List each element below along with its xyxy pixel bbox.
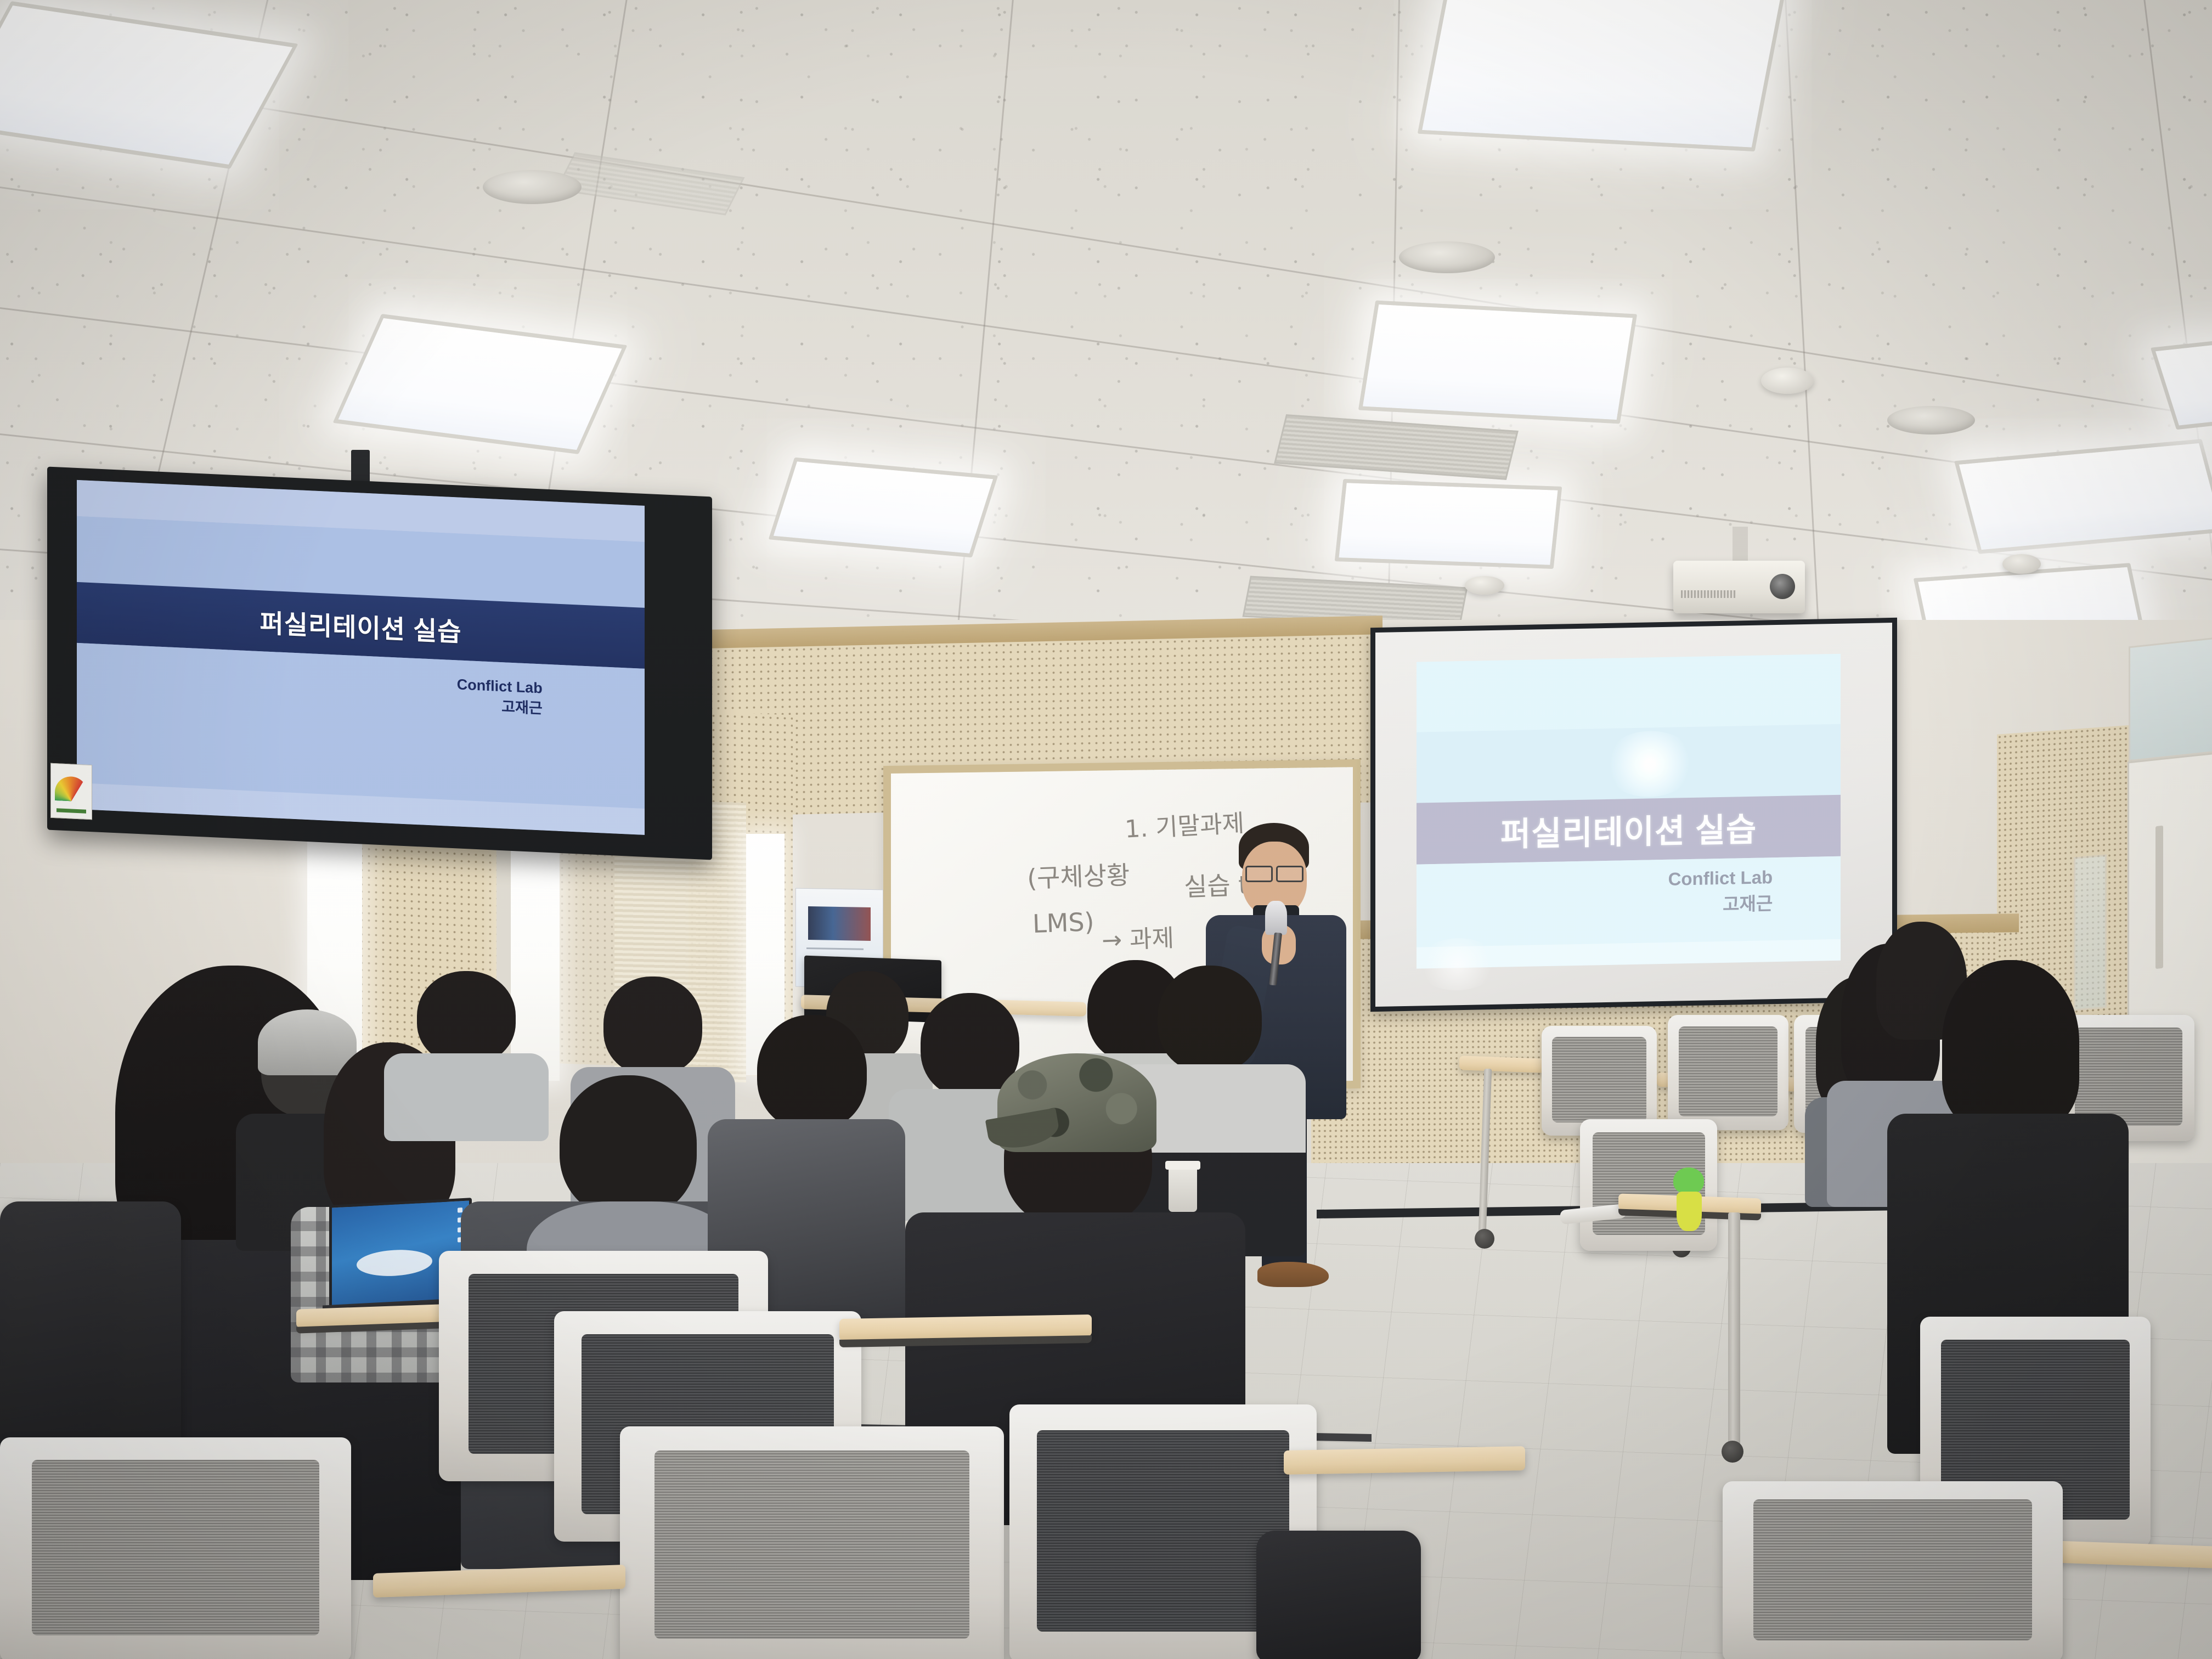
slide-title: 퍼실리테이션 실습 (260, 602, 462, 649)
chair-mesh-back (1037, 1430, 1289, 1632)
backpack (0, 1201, 181, 1465)
chair-mesh-back (1679, 1026, 1778, 1116)
chair-mesh-back (1753, 1499, 2032, 1640)
whiteboard-note: LMS) (1032, 907, 1094, 939)
slide-title: 퍼실리테이션 실습 (1500, 803, 1757, 856)
backpack (1256, 1531, 1421, 1659)
chair[interactable] (1723, 1481, 2063, 1659)
door-vent-slot (2155, 826, 2163, 969)
hair (417, 971, 516, 1064)
slide-title-band: 퍼실리테이션 실습 (1417, 795, 1840, 865)
smoke-detector (1761, 368, 1814, 394)
led-panel-light (1358, 301, 1637, 424)
presenter-shoe (1257, 1262, 1329, 1287)
slide-top-band-2 (1417, 724, 1840, 803)
led-panel-light (1418, 0, 1786, 151)
hair (560, 1075, 697, 1218)
display-slide: 퍼실리테이션 실습 Conflict Lab 고재근 (77, 480, 645, 835)
desk-leg (1728, 1212, 1740, 1448)
ceiling-speaker (1887, 406, 1975, 435)
led-panel-light (1335, 479, 1562, 569)
poster-image (808, 906, 871, 941)
slide-credit: Conflict Lab 고재근 (457, 674, 543, 720)
energy-label-arc (55, 776, 87, 802)
charm-head (1673, 1167, 1704, 1194)
energy-label-bar (57, 809, 86, 814)
chair[interactable] (620, 1426, 1004, 1659)
slide-org: Conflict Lab (457, 674, 543, 699)
slide-top-band (1417, 653, 1840, 732)
projection-screen-surface: 퍼실리테이션 실습 Conflict Lab 고재근 (1375, 623, 1892, 1007)
chair-mesh-back (654, 1451, 969, 1639)
projection-screen: 퍼실리테이션 실습 Conflict Lab 고재근 (1370, 618, 1897, 1012)
projector-mount-pole (1733, 527, 1748, 561)
desk-caster (1475, 1229, 1494, 1249)
chair[interactable] (0, 1437, 351, 1659)
whiteboard-note: (구체상황 (1026, 855, 1130, 895)
door-transom-glass (2129, 637, 2212, 762)
energy-efficiency-label (50, 763, 92, 820)
charm-body (1677, 1192, 1702, 1231)
glasses-icon (1245, 866, 1273, 882)
poster-text-line (806, 947, 864, 950)
tablet-arm-desk (1284, 1446, 1525, 1475)
glasses-icon (1276, 866, 1304, 882)
ceiling-speaker (483, 170, 582, 204)
plush-charm (1671, 1167, 1706, 1232)
hair (757, 1015, 867, 1130)
hair (1942, 960, 2079, 1130)
hair (603, 977, 702, 1075)
slide-credit: Conflict Lab 고재근 (1668, 864, 1773, 918)
microphone (1265, 901, 1287, 935)
chair[interactable] (1668, 1015, 1788, 1130)
smoke-detector (2002, 554, 2041, 574)
desk-caster (1722, 1441, 1743, 1463)
projected-slide: 퍼실리테이션 실습 Conflict Lab 고재근 (1417, 653, 1840, 968)
chair-mesh-back (1552, 1037, 1646, 1122)
slide-org: Conflict Lab (1668, 864, 1773, 893)
classroom-photo: 1. 기말과제 (구체상황 실습 tea LMS) → 과제 퍼실리테이션 실습… (0, 0, 2212, 1659)
whiteboard-note: → 과제 (1101, 918, 1175, 956)
wall-display: 퍼실리테이션 실습 Conflict Lab 고재근 (47, 466, 712, 860)
desktop-wallpaper-cloud (357, 1248, 432, 1278)
projector-vent (1681, 590, 1736, 598)
slide-presenter: 고재근 (1668, 890, 1773, 919)
slide-body: Conflict Lab 고재근 (1417, 856, 1840, 947)
slide-presenter: 고재근 (457, 695, 543, 720)
projector-lens (1770, 574, 1795, 599)
slide-body: Conflict Lab 고재근 (77, 643, 645, 809)
smoke-detector (1465, 576, 1504, 595)
ceiling-speaker (1399, 241, 1495, 273)
chair-mesh-back (32, 1460, 320, 1635)
